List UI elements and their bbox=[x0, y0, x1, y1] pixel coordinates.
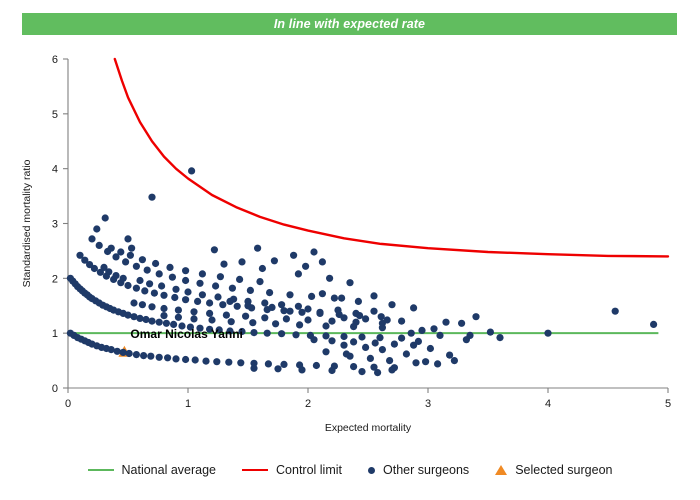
x-tick-label: 0 bbox=[65, 398, 71, 410]
surgeon-point[interactable] bbox=[182, 296, 189, 303]
surgeon-point[interactable] bbox=[374, 369, 381, 376]
surgeon-point[interactable] bbox=[148, 194, 155, 201]
surgeon-point[interactable] bbox=[199, 291, 206, 298]
surgeon-point[interactable] bbox=[466, 332, 473, 339]
surgeon-point[interactable] bbox=[146, 280, 153, 287]
legend-triangle-swatch bbox=[495, 465, 507, 475]
surgeon-point[interactable] bbox=[398, 335, 405, 342]
funnel-plot-screenshot: In line with expected rate 0123456012345… bbox=[0, 0, 700, 500]
surgeon-point[interactable] bbox=[434, 360, 441, 367]
surgeon-point[interactable] bbox=[430, 325, 437, 332]
surgeon-point[interactable] bbox=[133, 263, 140, 270]
surgeon-point[interactable] bbox=[139, 256, 146, 263]
x-tick-label: 3 bbox=[425, 398, 431, 410]
surgeon-point[interactable] bbox=[175, 307, 182, 314]
surgeon-point[interactable] bbox=[458, 320, 465, 327]
surgeon-point[interactable] bbox=[346, 279, 353, 286]
surgeon-point[interactable] bbox=[410, 304, 417, 311]
y-axis-title: Standardised mortality ratio bbox=[21, 159, 33, 287]
surgeon-point[interactable] bbox=[136, 277, 143, 284]
surgeon-point[interactable] bbox=[403, 350, 410, 357]
surgeon-point[interactable] bbox=[265, 360, 272, 367]
surgeon-point[interactable] bbox=[544, 330, 551, 337]
surgeon-point[interactable] bbox=[182, 356, 189, 363]
surgeon-point[interactable] bbox=[217, 273, 224, 280]
legend-other-surgeons[interactable]: Other surgeons bbox=[368, 463, 469, 477]
surgeon-point[interactable] bbox=[184, 288, 191, 295]
surgeon-point[interactable] bbox=[112, 272, 119, 279]
surgeon-point[interactable] bbox=[328, 367, 335, 374]
y-tick-label: 0 bbox=[52, 383, 58, 395]
surgeon-point[interactable] bbox=[136, 315, 143, 322]
y-tick-label: 6 bbox=[52, 54, 58, 66]
legend-item-label: National average bbox=[122, 463, 217, 477]
surgeon-point[interactable] bbox=[286, 308, 293, 315]
surgeon-point[interactable] bbox=[144, 267, 151, 274]
surgeon-point[interactable] bbox=[487, 329, 494, 336]
surgeon-point[interactable] bbox=[268, 304, 275, 311]
reference-lines-group bbox=[68, 59, 668, 333]
x-tick-label: 5 bbox=[665, 398, 671, 410]
surgeon-point[interactable] bbox=[164, 354, 171, 361]
axes-group: 0123456012345Standardised mortality rati… bbox=[21, 54, 671, 434]
surgeon-point[interactable] bbox=[384, 316, 391, 323]
surgeon-point[interactable] bbox=[91, 265, 98, 272]
surgeon-point[interactable] bbox=[158, 282, 165, 289]
surgeon-point[interactable] bbox=[355, 298, 362, 305]
surgeon-point[interactable] bbox=[350, 363, 357, 370]
surgeon-point[interactable] bbox=[322, 332, 329, 339]
surgeon-point[interactable] bbox=[223, 312, 230, 319]
surgeon-point[interactable] bbox=[124, 235, 131, 242]
surgeon-point[interactable] bbox=[254, 245, 261, 252]
surgeon-point[interactable] bbox=[340, 333, 347, 340]
surgeon-point[interactable] bbox=[237, 359, 244, 366]
surgeon-point[interactable] bbox=[612, 308, 619, 315]
surgeon-point[interactable] bbox=[190, 308, 197, 315]
surgeon-point[interactable] bbox=[316, 309, 323, 316]
surgeon-point[interactable] bbox=[286, 291, 293, 298]
surgeon-point[interactable] bbox=[206, 299, 213, 306]
surgeon-point[interactable] bbox=[334, 307, 341, 314]
surgeon-point[interactable] bbox=[247, 287, 254, 294]
surgeon-point[interactable] bbox=[304, 316, 311, 323]
surgeon-point[interactable] bbox=[122, 258, 129, 265]
legend-national-average[interactable]: National average bbox=[88, 463, 217, 477]
surgeon-point[interactable] bbox=[343, 350, 350, 357]
surgeon-point[interactable] bbox=[362, 344, 369, 351]
surgeon-point[interactable] bbox=[244, 302, 251, 309]
surgeon-point[interactable] bbox=[358, 333, 365, 340]
surgeon-point[interactable] bbox=[133, 285, 140, 292]
surgeon-point[interactable] bbox=[442, 319, 449, 326]
surgeon-point[interactable] bbox=[340, 314, 347, 321]
surgeon-point[interactable] bbox=[310, 336, 317, 343]
surgeon-point[interactable] bbox=[280, 361, 287, 368]
surgeon-point[interactable] bbox=[171, 294, 178, 301]
surgeon-point[interactable] bbox=[386, 357, 393, 364]
surgeon-point[interactable] bbox=[259, 265, 266, 272]
surgeon-point[interactable] bbox=[108, 245, 115, 252]
surgeon-point[interactable] bbox=[172, 355, 179, 362]
surgeon-point[interactable] bbox=[196, 280, 203, 287]
surgeon-point[interactable] bbox=[302, 263, 309, 270]
funnel-plot-svg: 0123456012345Standardised mortality rati… bbox=[0, 0, 700, 500]
surgeon-point[interactable] bbox=[261, 299, 268, 306]
surgeon-point[interactable] bbox=[238, 258, 245, 265]
surgeon-point[interactable] bbox=[408, 330, 415, 337]
surgeon-point[interactable] bbox=[148, 318, 155, 325]
surgeon-point[interactable] bbox=[151, 290, 158, 297]
surgeon-point[interactable] bbox=[372, 339, 379, 346]
surgeon-point[interactable] bbox=[370, 308, 377, 315]
surgeon-point[interactable] bbox=[128, 245, 135, 252]
surgeon-point[interactable] bbox=[451, 357, 458, 364]
surgeon-point[interactable] bbox=[219, 301, 226, 308]
surgeon-point[interactable] bbox=[117, 248, 124, 255]
surgeon-point[interactable] bbox=[379, 346, 386, 353]
surgeon-point[interactable] bbox=[290, 252, 297, 259]
surgeon-point[interactable] bbox=[156, 270, 163, 277]
surgeon-point[interactable] bbox=[102, 214, 109, 221]
surgeon-point[interactable] bbox=[250, 365, 257, 372]
surgeon-point[interactable] bbox=[166, 264, 173, 271]
chart-legend: National averageControl limitOther surge… bbox=[0, 455, 700, 485]
surgeon-point[interactable] bbox=[304, 305, 311, 312]
surgeon-point[interactable] bbox=[126, 350, 133, 357]
surgeon-point[interactable] bbox=[328, 337, 335, 344]
surgeon-point[interactable] bbox=[391, 341, 398, 348]
legend-line-swatch bbox=[88, 469, 114, 471]
surgeon-point[interactable] bbox=[271, 257, 278, 264]
surgeon-point[interactable] bbox=[367, 355, 374, 362]
legend-item-label: Control limit bbox=[276, 463, 342, 477]
surgeon-point[interactable] bbox=[427, 345, 434, 352]
surgeon-point[interactable] bbox=[322, 322, 329, 329]
legend-item-label: Other surgeons bbox=[383, 463, 469, 477]
surgeon-point[interactable] bbox=[298, 366, 305, 373]
surgeon-point[interactable] bbox=[214, 293, 221, 300]
surgeon-point[interactable] bbox=[388, 366, 395, 373]
surgeon-point[interactable] bbox=[415, 338, 422, 345]
surgeon-point[interactable] bbox=[250, 329, 257, 336]
surgeon-point[interactable] bbox=[182, 277, 189, 284]
surgeon-point[interactable] bbox=[160, 305, 167, 312]
legend-item-label: Selected surgeon bbox=[515, 463, 612, 477]
surgeon-point[interactable] bbox=[114, 348, 121, 355]
surgeon-point[interactable] bbox=[156, 354, 163, 361]
surgeon-point[interactable] bbox=[152, 260, 159, 267]
legend-selected-surgeon[interactable]: Selected surgeon bbox=[495, 463, 612, 477]
surgeon-point[interactable] bbox=[379, 324, 386, 331]
surgeon-point[interactable] bbox=[446, 352, 453, 359]
surgeon-point[interactable] bbox=[88, 235, 95, 242]
surgeon-point[interactable] bbox=[127, 252, 134, 259]
x-tick-label: 2 bbox=[305, 398, 311, 410]
surgeon-point[interactable] bbox=[202, 358, 209, 365]
surgeon-point[interactable] bbox=[225, 359, 232, 366]
surgeon-point[interactable] bbox=[292, 331, 299, 338]
surgeon-point[interactable] bbox=[256, 278, 263, 285]
surgeon-point[interactable] bbox=[249, 319, 256, 326]
surgeon-point[interactable] bbox=[319, 290, 326, 297]
surgeon-point[interactable] bbox=[398, 318, 405, 325]
surgeon-point[interactable] bbox=[328, 318, 335, 325]
surgeon-point[interactable] bbox=[352, 310, 359, 317]
surgeon-point[interactable] bbox=[322, 348, 329, 355]
surgeon-point[interactable] bbox=[192, 356, 199, 363]
surgeon-point[interactable] bbox=[370, 292, 377, 299]
surgeon-point[interactable] bbox=[418, 327, 425, 334]
surgeon-point[interactable] bbox=[310, 248, 317, 255]
surgeon-point[interactable] bbox=[331, 295, 338, 302]
surgeon-point[interactable] bbox=[208, 316, 215, 323]
surgeon-point[interactable] bbox=[148, 303, 155, 310]
surgeon-point[interactable] bbox=[358, 368, 365, 375]
surgeon-point[interactable] bbox=[160, 312, 167, 319]
surgeon-point[interactable] bbox=[412, 359, 419, 366]
surgeon-point[interactable] bbox=[436, 332, 443, 339]
surgeon-point[interactable] bbox=[242, 313, 249, 320]
surgeon-point[interactable] bbox=[169, 274, 176, 281]
surgeon-point[interactable] bbox=[182, 267, 189, 274]
surgeon-point[interactable] bbox=[388, 301, 395, 308]
surgeon-point[interactable] bbox=[139, 301, 146, 308]
x-tick-label: 1 bbox=[185, 398, 191, 410]
surgeon-point[interactable] bbox=[140, 352, 147, 359]
surgeon-point[interactable] bbox=[308, 293, 315, 300]
surgeon-point[interactable] bbox=[234, 303, 241, 310]
series-other-surgeons bbox=[67, 167, 657, 376]
surgeon-point[interactable] bbox=[190, 315, 197, 322]
surgeon-point[interactable] bbox=[124, 282, 131, 289]
surgeon-point[interactable] bbox=[278, 330, 285, 337]
selected-surgeon-label: Omar Nicolas Yanni bbox=[130, 327, 243, 341]
surgeon-point[interactable] bbox=[295, 303, 302, 310]
surgeon-point[interactable] bbox=[133, 351, 140, 358]
surgeon-point[interactable] bbox=[175, 314, 182, 321]
surgeon-point[interactable] bbox=[350, 338, 357, 345]
surgeon-point[interactable] bbox=[96, 242, 103, 249]
surgeon-point[interactable] bbox=[229, 285, 236, 292]
x-tick-label: 4 bbox=[545, 398, 551, 410]
surgeon-point[interactable] bbox=[220, 261, 227, 268]
surgeon-point[interactable] bbox=[422, 358, 429, 365]
surgeon-point[interactable] bbox=[272, 320, 279, 327]
surgeon-point[interactable] bbox=[163, 320, 170, 327]
surgeon-point[interactable] bbox=[350, 323, 357, 330]
surgeon-point[interactable] bbox=[120, 275, 127, 282]
surgeon-point[interactable] bbox=[212, 282, 219, 289]
surgeon-point[interactable] bbox=[496, 334, 503, 341]
surgeon-point[interactable] bbox=[172, 286, 179, 293]
surgeon-point[interactable] bbox=[141, 287, 148, 294]
surgeon-point[interactable] bbox=[650, 321, 657, 328]
surgeon-point[interactable] bbox=[93, 225, 100, 232]
surgeon-point[interactable] bbox=[261, 314, 268, 321]
control-limit-curve bbox=[115, 59, 668, 256]
surgeon-point[interactable] bbox=[296, 321, 303, 328]
surgeon-point[interactable] bbox=[313, 362, 320, 369]
surgeon-point[interactable] bbox=[278, 301, 285, 308]
surgeon-point[interactable] bbox=[211, 246, 218, 253]
surgeon-point[interactable] bbox=[188, 167, 195, 174]
surgeon-point[interactable] bbox=[340, 342, 347, 349]
surgeon-point[interactable] bbox=[105, 268, 112, 275]
legend-control-limit[interactable]: Control limit bbox=[242, 463, 342, 477]
surgeon-point[interactable] bbox=[295, 270, 302, 277]
surgeon-point[interactable] bbox=[213, 358, 220, 365]
surgeon-point[interactable] bbox=[362, 315, 369, 322]
legend-line-swatch bbox=[242, 469, 268, 471]
surgeon-point[interactable] bbox=[130, 299, 137, 306]
surgeon-point[interactable] bbox=[376, 334, 383, 341]
y-tick-label: 5 bbox=[52, 109, 58, 121]
surgeon-point[interactable] bbox=[472, 313, 479, 320]
surgeon-point[interactable] bbox=[199, 270, 206, 277]
surgeon-point[interactable] bbox=[194, 298, 201, 305]
y-tick-label: 2 bbox=[52, 273, 58, 285]
surgeon-point[interactable] bbox=[147, 353, 154, 360]
surgeon-point[interactable] bbox=[266, 289, 273, 296]
surgeon-point[interactable] bbox=[326, 275, 333, 282]
x-axis-title: Expected mortality bbox=[325, 422, 412, 434]
surgeon-point[interactable] bbox=[338, 295, 345, 302]
surgeon-point[interactable] bbox=[236, 276, 243, 283]
surgeon-point[interactable] bbox=[274, 365, 281, 372]
surgeon-point[interactable] bbox=[319, 258, 326, 265]
surgeon-point[interactable] bbox=[226, 298, 233, 305]
chart-area: 0123456012345Standardised mortality rati… bbox=[0, 0, 700, 500]
y-tick-label: 4 bbox=[52, 164, 58, 176]
surgeon-point[interactable] bbox=[283, 315, 290, 322]
surgeon-point[interactable] bbox=[206, 310, 213, 317]
surgeon-point[interactable] bbox=[160, 292, 167, 299]
surgeon-point[interactable] bbox=[120, 349, 127, 356]
y-tick-label: 1 bbox=[52, 328, 58, 340]
surgeon-point[interactable] bbox=[156, 319, 163, 326]
legend-dot-swatch bbox=[368, 467, 375, 474]
surgeon-point[interactable] bbox=[228, 318, 235, 325]
y-tick-label: 3 bbox=[52, 219, 58, 231]
surgeon-point[interactable] bbox=[264, 330, 271, 337]
